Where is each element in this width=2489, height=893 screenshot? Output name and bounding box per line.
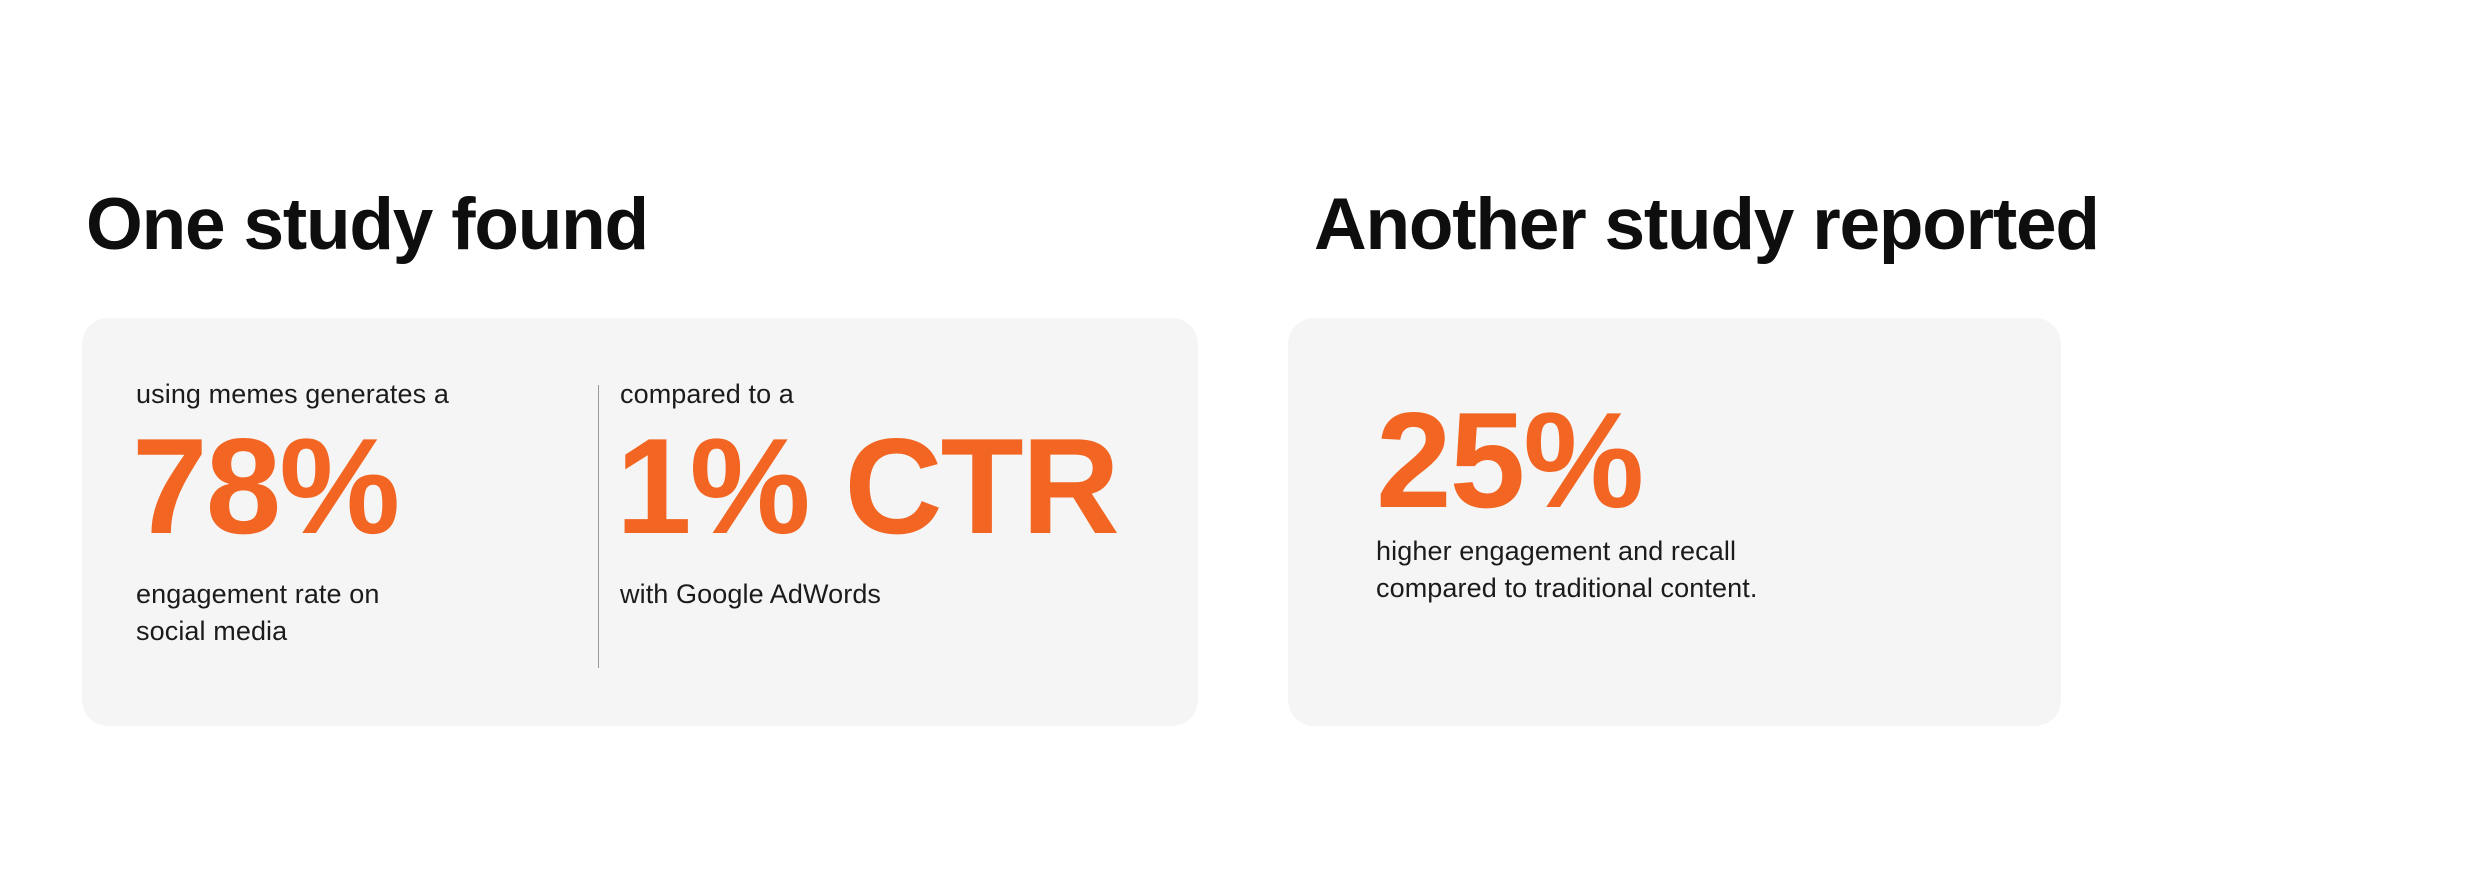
infographic-canvas: One study found Another study reported u…	[0, 0, 2489, 893]
stat-caption: engagement rate on social media	[136, 576, 379, 651]
stat-value: 78%	[132, 418, 398, 554]
stat-kicker: compared to a	[620, 377, 794, 413]
stat-value: 25%	[1376, 392, 1642, 528]
stat-value: 1% CTR	[616, 418, 1118, 554]
stat-caption: with Google AdWords	[620, 576, 881, 613]
column-divider	[598, 385, 599, 668]
section-heading-two: Another study reported	[1314, 188, 2099, 261]
stat-card-one: using memes generates a 78% engagement r…	[82, 318, 1198, 726]
stat-block-adwords: compared to a 1% CTR with Google AdWords	[620, 318, 1140, 726]
stat-card-one-body: using memes generates a 78% engagement r…	[82, 318, 1198, 726]
stat-kicker: using memes generates a	[136, 377, 449, 413]
stat-caption: higher engagement and recall compared to…	[1376, 533, 1757, 608]
stat-card-two-body: 25% higher engagement and recall compare…	[1288, 318, 2061, 726]
stat-card-two: 25% higher engagement and recall compare…	[1288, 318, 2061, 726]
section-heading-one: One study found	[86, 188, 648, 261]
stat-block-memes: using memes generates a 78% engagement r…	[136, 318, 606, 726]
